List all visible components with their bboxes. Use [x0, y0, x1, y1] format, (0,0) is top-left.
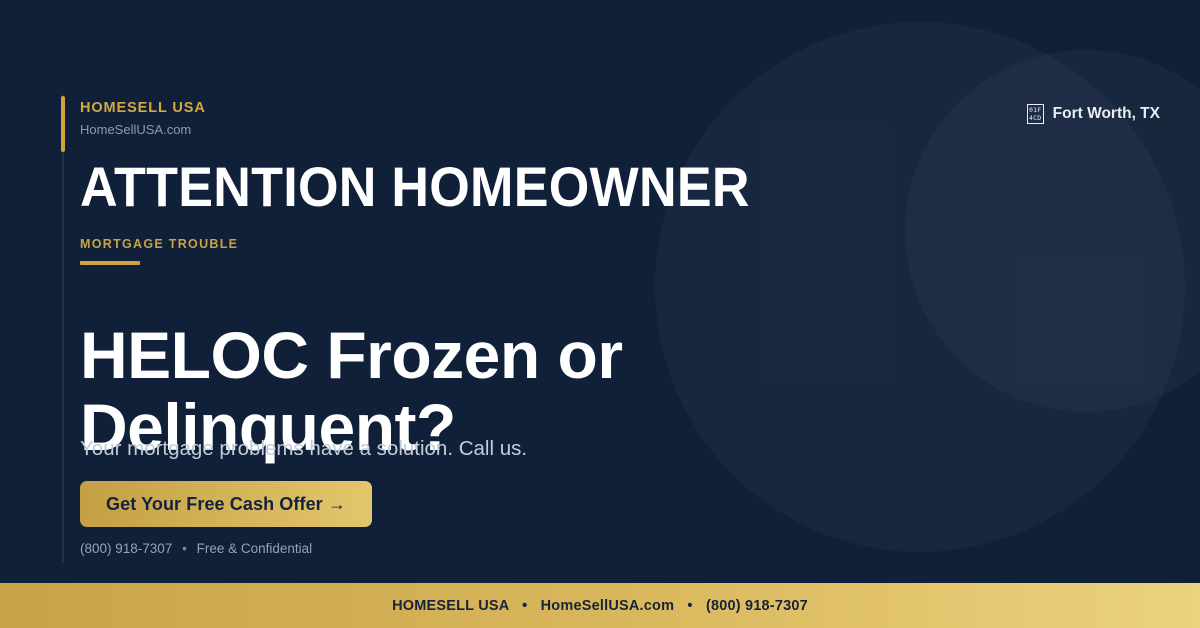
map-pin-icon: 01F 4CD — [1027, 104, 1044, 124]
footer-bar: HOMESELL USA • HomeSellUSA.com • (800) 9… — [0, 583, 1200, 628]
footer-phone[interactable]: (800) 918-7307 — [706, 598, 808, 614]
footer-website[interactable]: HomeSellUSA.com — [541, 598, 675, 614]
fine-print-assurance: Free & Confidential — [197, 541, 313, 556]
fine-print-phone[interactable]: (800) 918-7307 — [80, 541, 172, 556]
fine-print-separator: • — [176, 541, 193, 556]
eyebrow-rule — [80, 261, 140, 265]
get-free-cash-offer-button[interactable]: Get Your Free Cash Offer → — [80, 481, 372, 527]
fine-print: (800) 918-7307 • Free & Confidential — [80, 541, 312, 557]
left-rail-line — [62, 95, 64, 563]
left-rail-gold-accent — [61, 96, 65, 152]
location-badge: 01F 4CD Fort Worth, TX — [1027, 104, 1160, 124]
map-pin-icon-codepoint-top: 01F — [1029, 106, 1041, 114]
location-label: Fort Worth, TX — [1053, 105, 1160, 123]
map-pin-icon-codepoint-bottom: 4CD — [1029, 114, 1041, 122]
ad-content: HOMESELL USA HomeSellUSA.com 01F 4CD For… — [80, 0, 1120, 583]
footer-text: HOMESELL USA • HomeSellUSA.com • (800) 9… — [392, 598, 808, 614]
header-bar: HOMESELL USA HomeSellUSA.com 01F 4CD For… — [80, 101, 1140, 147]
footer-separator-1: • — [513, 598, 536, 614]
footer-separator-2: • — [678, 598, 701, 614]
brand-website: HomeSellUSA.com — [80, 123, 1140, 137]
attention-headline: ATTENTION HOMEOWNER — [80, 158, 750, 217]
ad-creative: HOMESELL USA HomeSellUSA.com 01F 4CD For… — [0, 0, 1200, 628]
brand-name: HOMESELL USA — [80, 101, 1140, 117]
subheadline: Your mortgage problems have a solution. … — [80, 436, 527, 463]
eyebrow-label: MORTGAGE TROUBLE — [80, 238, 238, 252]
footer-brand: HOMESELL USA — [392, 598, 509, 614]
